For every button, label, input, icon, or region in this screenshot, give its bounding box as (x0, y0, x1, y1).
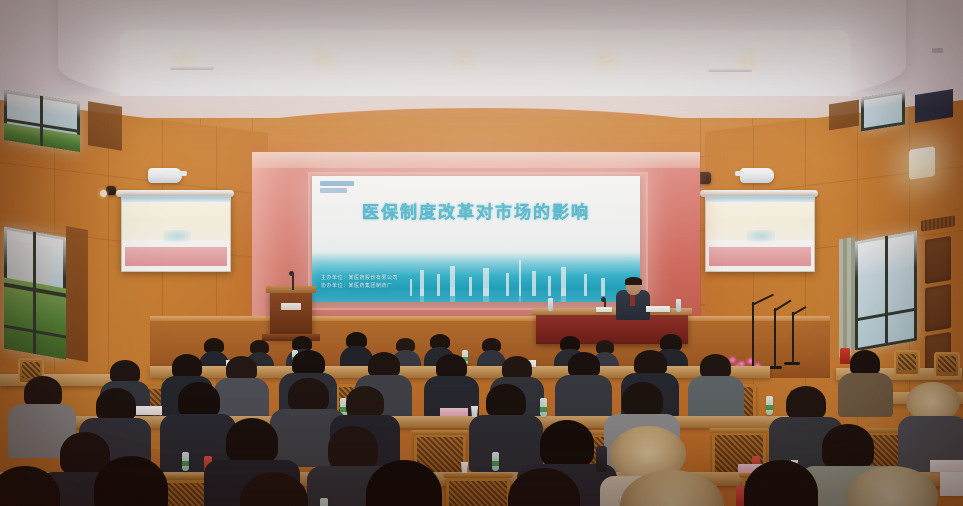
audience-area (0, 300, 963, 506)
ceiling-light-icon (742, 57, 755, 66)
ceiling-track-bar (170, 66, 214, 70)
presenter-hair (625, 277, 642, 285)
stage-backdrop-valance (252, 152, 700, 168)
ceiling-light-icon (600, 55, 613, 64)
thermos (596, 446, 607, 472)
side-projection-screen-right[interactable] (705, 196, 815, 272)
wall-speaker-right (740, 168, 774, 183)
document (930, 460, 963, 472)
wall-speaker-left (148, 168, 182, 183)
ceiling-light-icon (178, 57, 191, 66)
document (136, 406, 162, 415)
water-bottle (492, 452, 499, 471)
ceiling-light-icon (317, 55, 330, 64)
podium-microphone-icon (289, 271, 294, 276)
wall-recess-right (829, 100, 859, 131)
side-projection-screen-left[interactable] (121, 196, 231, 272)
document (940, 472, 963, 496)
wall-recess-left (88, 101, 122, 150)
main-screen-frame (308, 172, 648, 310)
chair[interactable] (446, 478, 510, 506)
clerestory-window-right (861, 91, 905, 132)
water-bottle (540, 398, 547, 417)
document-pink (440, 408, 468, 416)
acoustic-panel (925, 236, 951, 284)
water-bottle (182, 452, 189, 471)
podium-top (266, 286, 316, 293)
ceiling-vent (932, 48, 943, 53)
wall-camera (106, 186, 116, 195)
water-bottle (320, 498, 328, 506)
conference-hall-photo: 医保制度改革对市场的影响 主办单位：某医药股份有限公司 协办单位：某医药集团制药… (0, 0, 963, 506)
ceiling-light-icon (458, 55, 471, 64)
podium-microphone-stem (292, 274, 294, 290)
wall-sconce-light (909, 146, 935, 180)
ceiling-track-bar (708, 68, 752, 72)
water-bottle (766, 396, 773, 415)
